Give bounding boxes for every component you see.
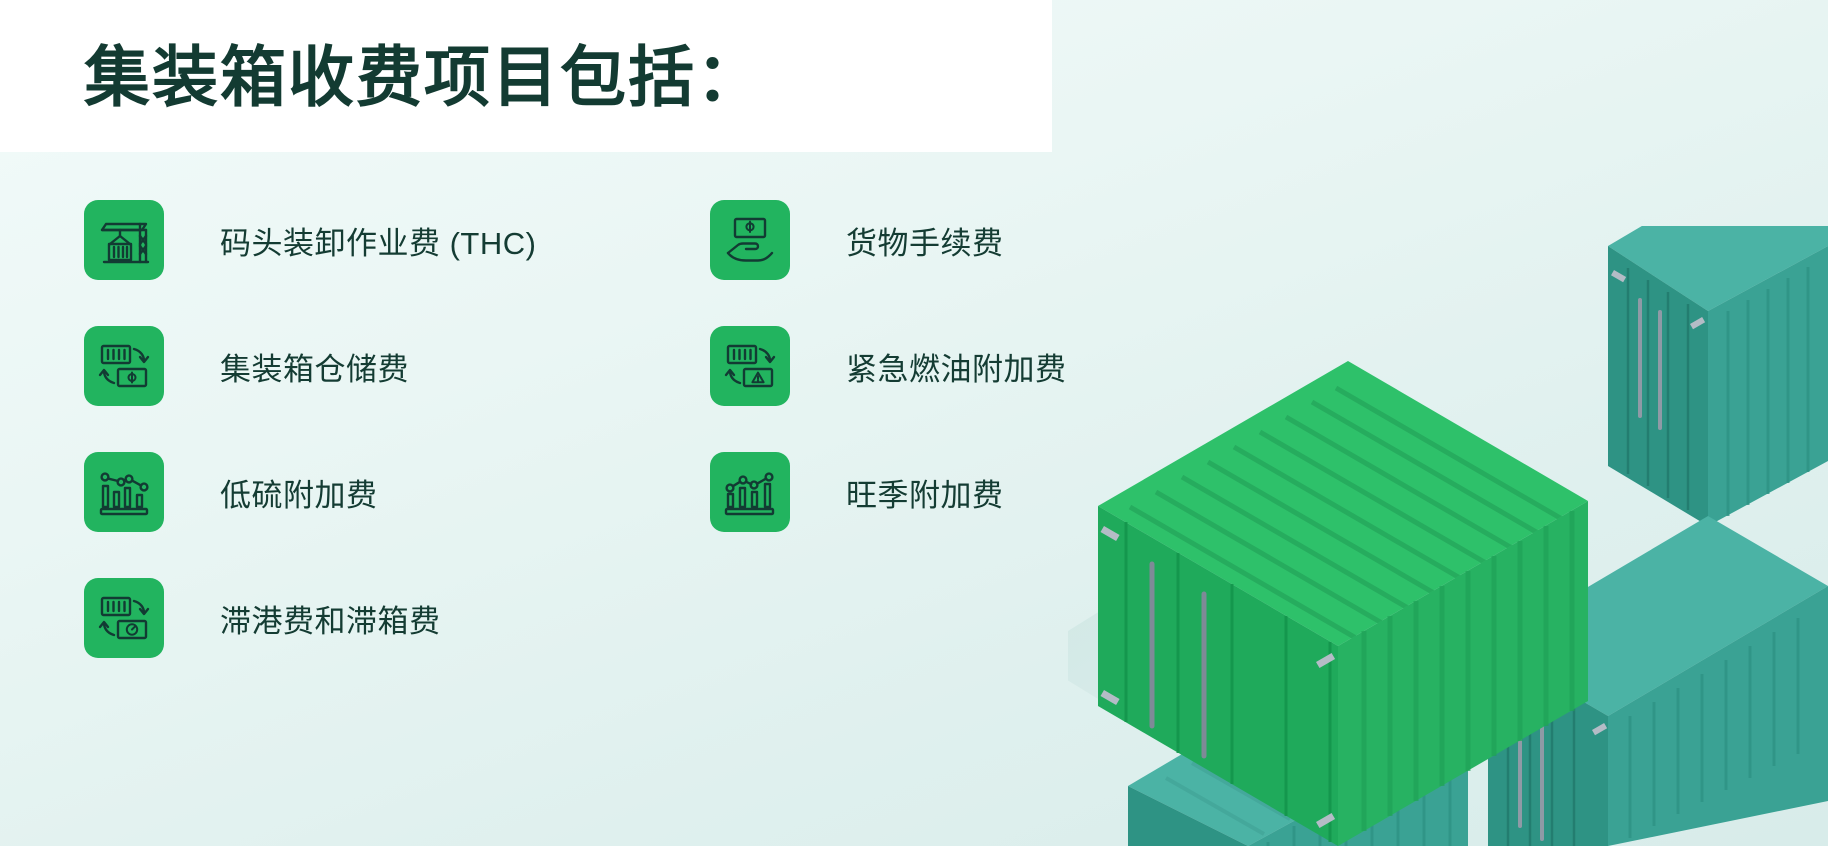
header-band: 集装箱收费项目包括： [0,0,1052,152]
list-item-bunker[interactable]: 紧急燃油附加费 [710,326,1067,406]
list-item-label: 滞港费和滞箱费 [220,596,441,641]
list-item-thc[interactable]: 码头装卸作业费 (THC) [84,200,536,280]
page-title: 集装箱收费项目包括： [84,44,764,110]
list-item-label: 旺季附加费 [846,470,1004,515]
list-item-label: 紧急燃油附加费 [846,344,1067,389]
container-alert-swap-icon [710,326,790,406]
crane-container-icon [84,200,164,280]
bar-chart-down-icon [84,452,164,532]
list-item-handling[interactable]: 货物手续费 [710,200,1004,280]
list-item-peak-season[interactable]: 旺季附加费 [710,452,1004,532]
list-item-label: 集装箱仓储费 [220,344,409,389]
container-money-swap-icon [84,326,164,406]
list-item-storage[interactable]: 集装箱仓储费 [84,326,409,406]
container-teal-front-bottom [1128,656,1468,846]
list-item-label: 低硫附加费 [220,470,378,515]
list-item-label: 码头装卸作业费 (THC) [220,218,536,263]
container-teal-back [1608,226,1828,526]
bar-chart-up-icon [710,452,790,532]
hand-money-icon [710,200,790,280]
list-item-demurrage[interactable]: 滞港费和滞箱费 [84,578,441,658]
list-item-label: 货物手续费 [846,218,1004,263]
container-clock-swap-icon [84,578,164,658]
container-teal-front-right [1488,516,1828,846]
list-item-low-sulphur[interactable]: 低硫附加费 [84,452,378,532]
isometric-shipping-containers-illustration [1068,226,1828,846]
container-green-highlight [1098,361,1588,846]
slide-root: 集装箱收费项目包括： 码头装卸作业费 (THC) [0,0,1828,846]
